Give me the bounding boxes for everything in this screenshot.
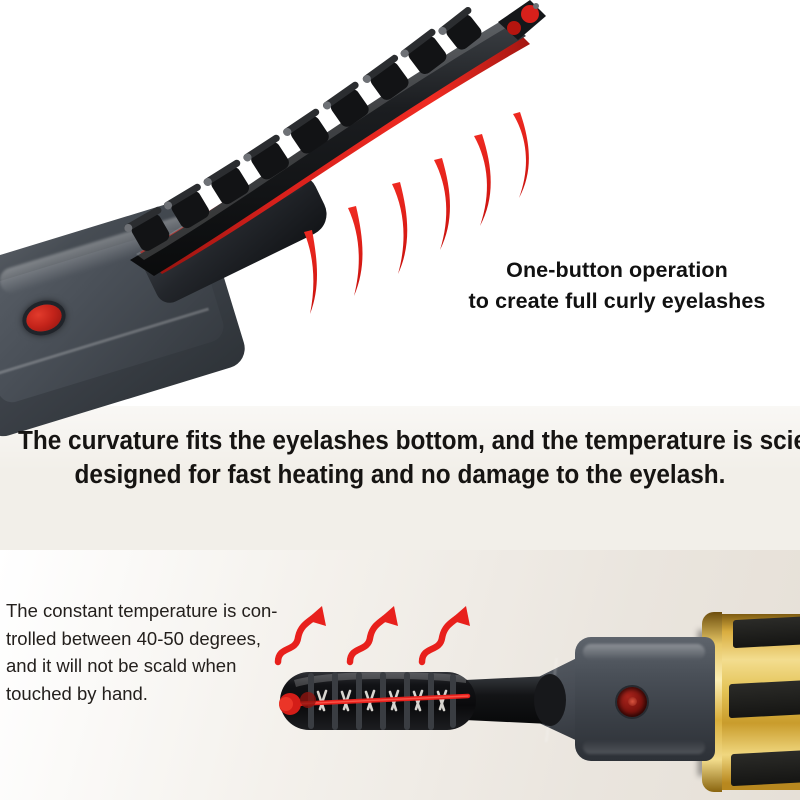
comb-teeth [123, 6, 488, 256]
callout-top-line-1: One-button operation [452, 255, 782, 286]
callout-top-line-2: to create full curly eyelashes [452, 286, 782, 317]
headline-line-1: The curvature fits the eyelashes bottom,… [18, 424, 782, 458]
barrel-inner-glow [300, 692, 316, 708]
product-image-top [0, 0, 610, 412]
headline: The curvature fits the eyelashes bottom,… [18, 424, 782, 492]
barrel-comb-graphic [250, 600, 800, 800]
heat-arrows [278, 616, 460, 662]
comb-spine [130, 18, 526, 276]
product-marketing-image: One-button operation to create full curl… [0, 0, 800, 800]
comb-head-graphic [0, 0, 610, 412]
shaft-collar [534, 674, 566, 726]
headline-line-2: designed for fast heating and no damage … [18, 458, 782, 492]
callout-top: One-button operation to create full curl… [452, 255, 782, 317]
heat-arrow-heads [306, 606, 470, 626]
product-image-bottom [250, 600, 800, 800]
barrel-tip-core [279, 697, 293, 711]
